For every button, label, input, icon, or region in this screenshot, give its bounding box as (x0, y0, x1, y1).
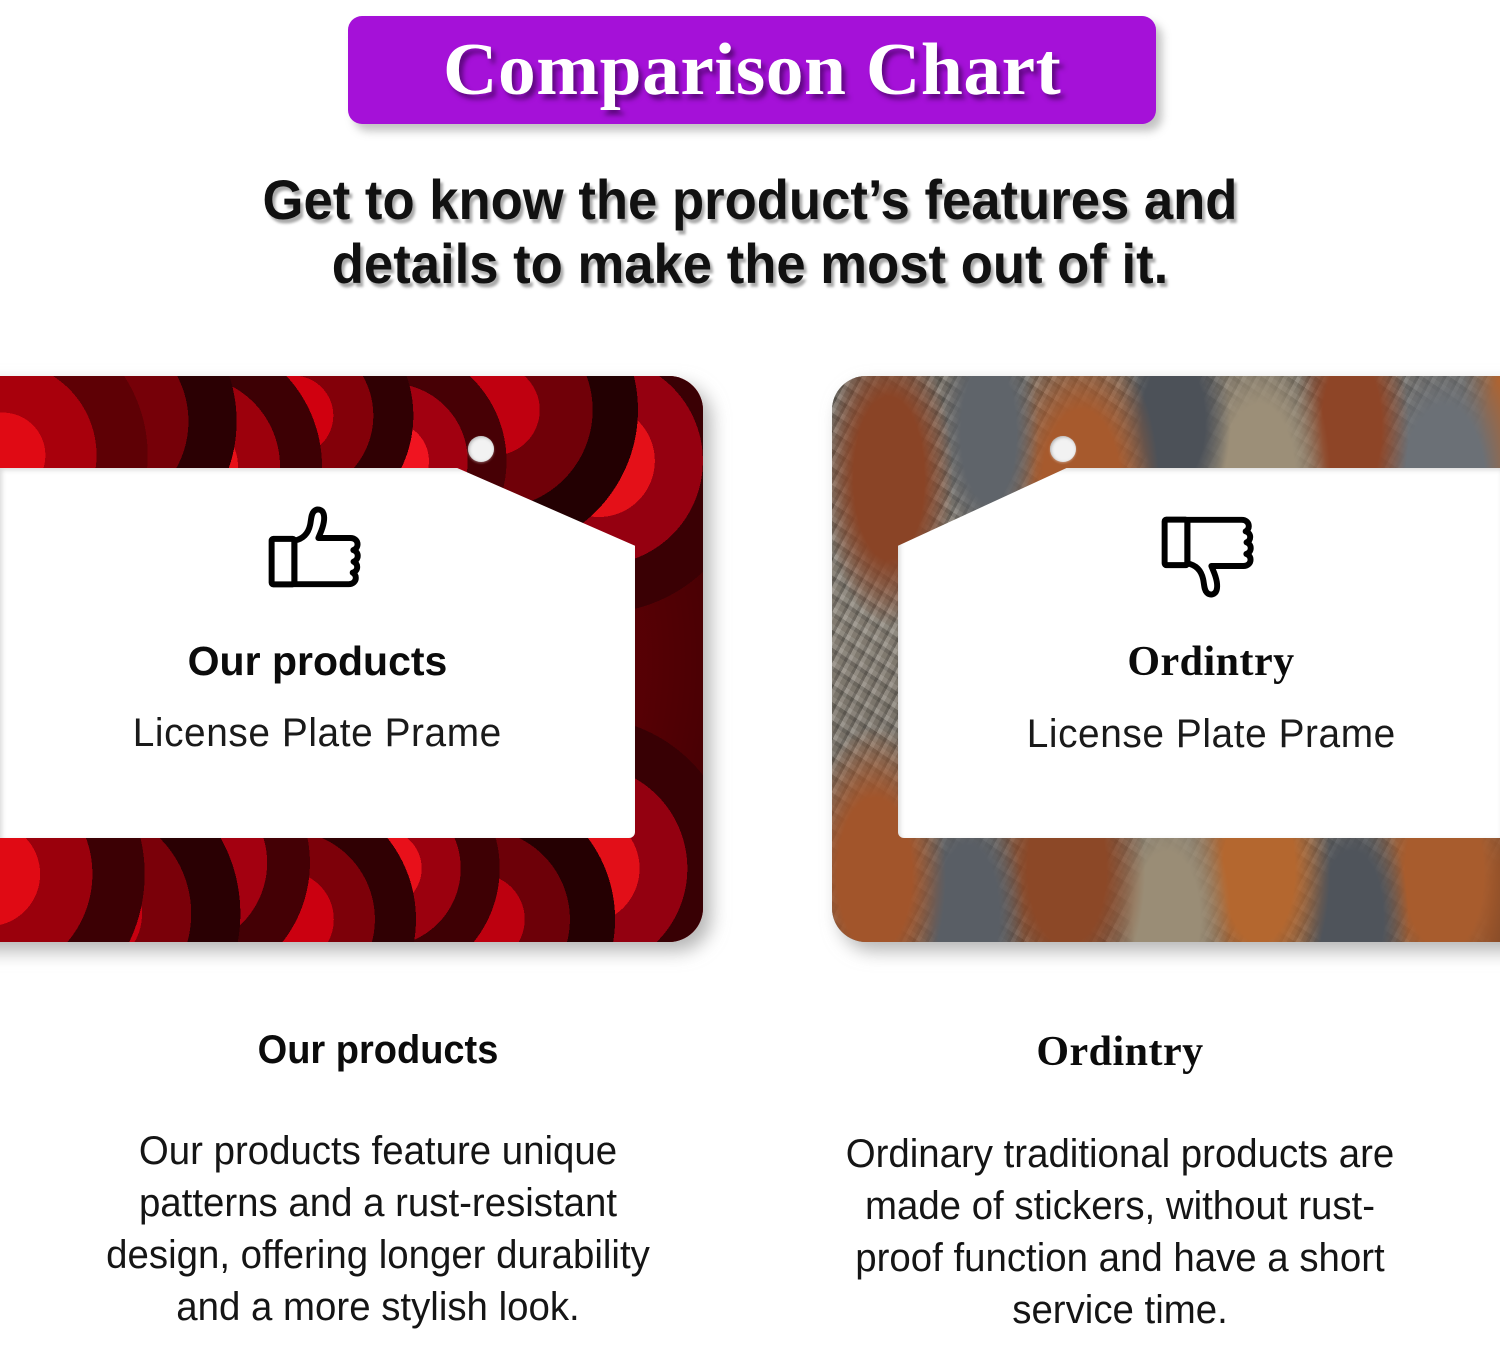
comparison-column-ordintry: Ordintry Ordinary traditional products a… (770, 1028, 1470, 1336)
plate-subtitle-left: License Plate Prame (133, 711, 502, 756)
plate-title-right: Ordintry (1127, 638, 1294, 686)
plate-title-left: Our products (188, 638, 448, 685)
subtitle-line-1: Get to know the product’s features and (45, 168, 1455, 232)
comparison-chart-banner: Comparison Chart (348, 16, 1156, 124)
our-product-license-plate-frame: Our products License Plate Prame (0, 376, 703, 942)
plate-window-left: Our products License Plate Prame (0, 468, 635, 838)
subtitle-line-2: details to make the most out of it. (45, 232, 1455, 296)
column-title-left: Our products (46, 1028, 711, 1073)
column-body-left: Our products feature unique patterns and… (80, 1125, 675, 1333)
plate-subtitle-right: License Plate Prame (1026, 712, 1395, 757)
plate-content-right: Ordintry License Plate Prame (898, 468, 1500, 838)
thumbs-up-icon (262, 496, 374, 608)
plate-window-right: Ordintry License Plate Prame (898, 468, 1500, 838)
page-title: Comparison Chart (443, 28, 1061, 113)
column-title-right: Ordintry (770, 1028, 1470, 1076)
thumbs-down-icon (1155, 496, 1267, 608)
mounting-hole (468, 436, 494, 462)
ordinary-product-license-plate-frame: Ordintry License Plate Prame (832, 376, 1500, 942)
mounting-hole (1050, 436, 1076, 462)
subtitle: Get to know the product’s features and d… (45, 168, 1455, 296)
plate-content-left: Our products License Plate Prame (0, 468, 635, 838)
comparison-column-our-products: Our products Our products feature unique… (28, 1028, 728, 1333)
column-body-right: Ordinary traditional products are made o… (822, 1128, 1417, 1336)
